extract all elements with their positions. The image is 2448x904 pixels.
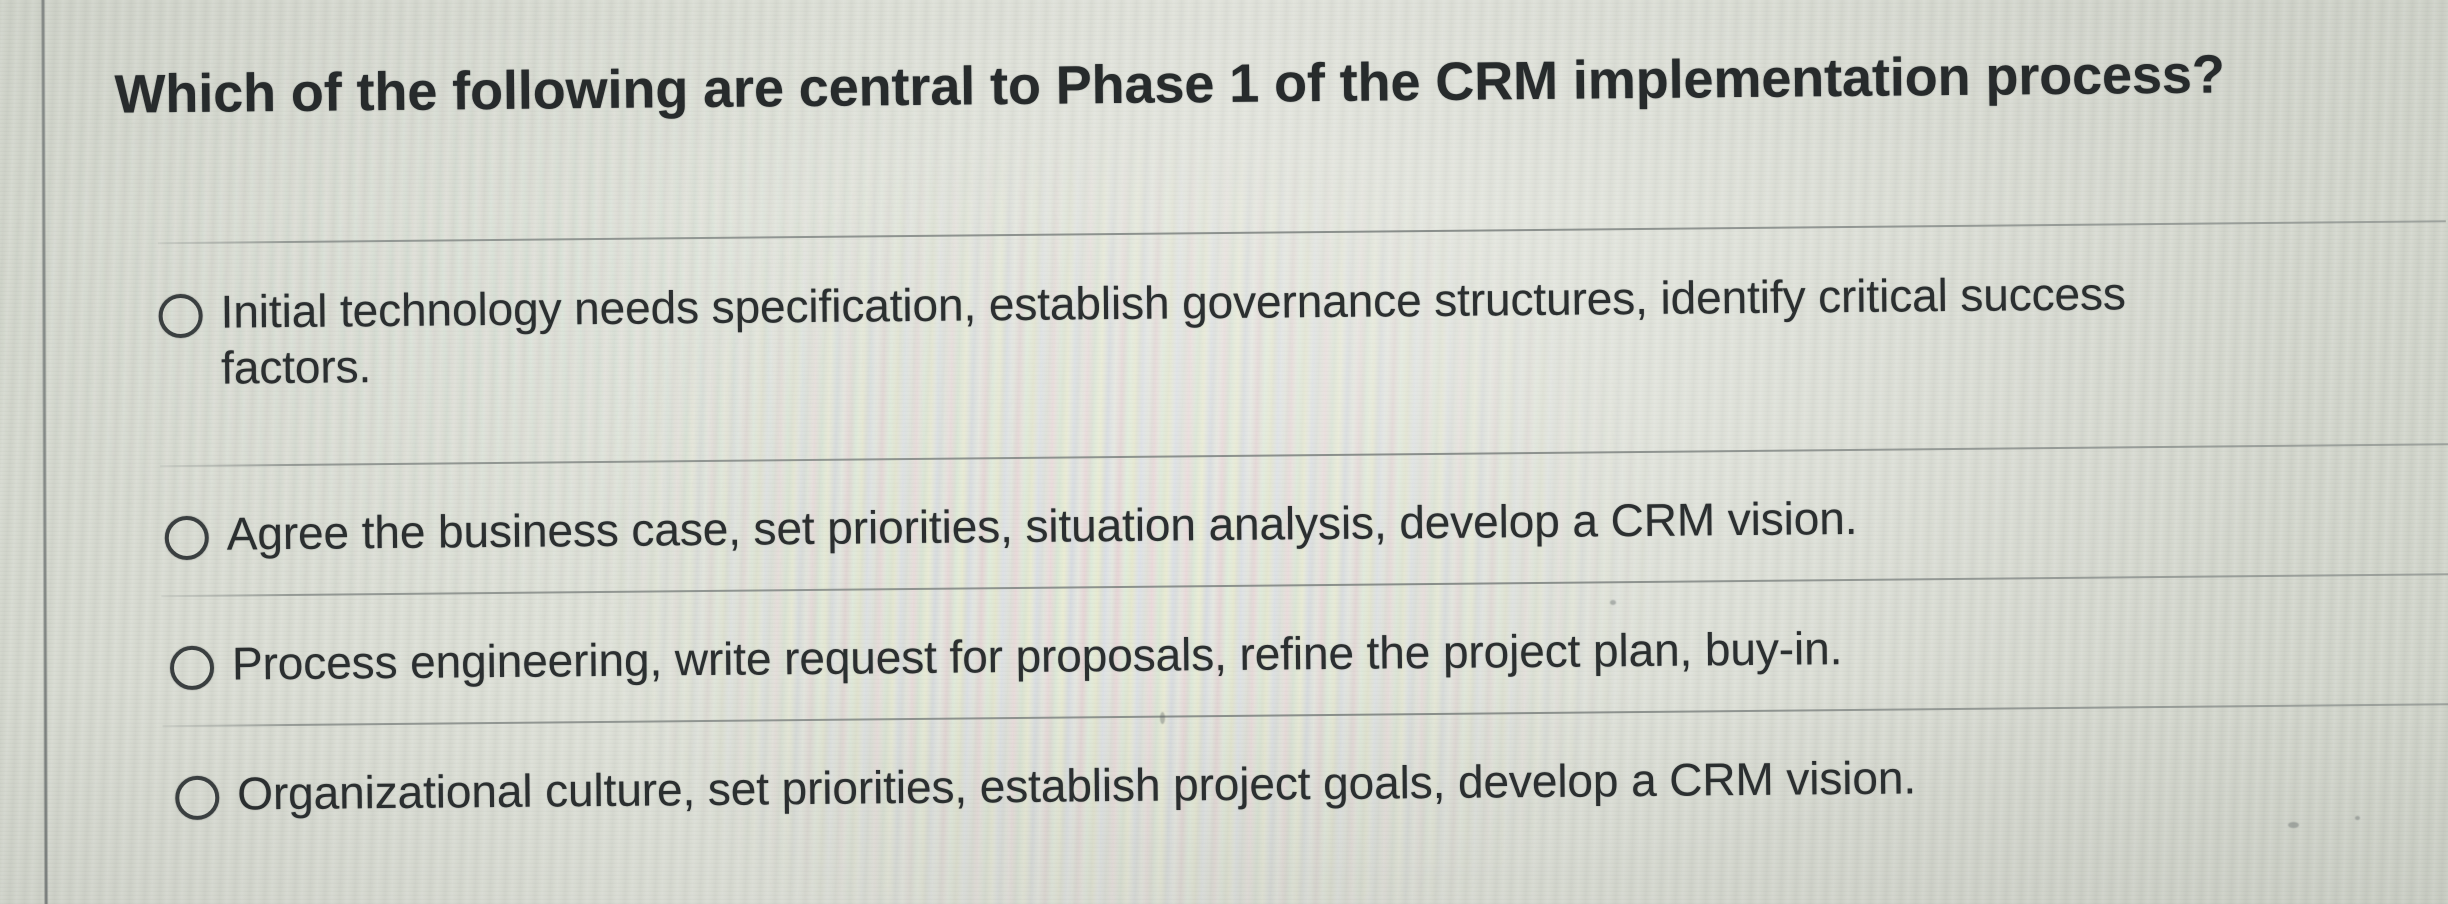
answer-option-a[interactable]: Initial technology needs specification, …: [158, 264, 2251, 396]
option-divider-2: [161, 573, 2448, 597]
answer-option-d[interactable]: Organizational culture, set priorities, …: [175, 749, 1916, 822]
radio-unchecked-icon[interactable]: [170, 646, 214, 690]
option-divider-1: [160, 443, 2448, 467]
answer-option-b[interactable]: Agree the business case, set priorities,…: [164, 490, 1857, 562]
answer-options-list: Initial technology needs specification, …: [0, 220, 2446, 243]
option-divider-3: [163, 703, 2448, 727]
radio-unchecked-icon[interactable]: [175, 776, 219, 820]
radio-unchecked-icon[interactable]: [165, 516, 209, 560]
answer-option-b-label: Agree the business case, set priorities,…: [226, 490, 1857, 562]
answer-option-c[interactable]: Process engineering, write request for p…: [170, 620, 1843, 692]
question-prompt: Which of the following are central to Ph…: [114, 39, 2415, 129]
option-divider-top: [158, 220, 2446, 244]
left-vertical-rule: [41, 0, 47, 904]
answer-option-d-label: Organizational culture, set priorities, …: [237, 749, 1916, 821]
answer-option-a-label: Initial technology needs specification, …: [220, 264, 2251, 396]
radio-unchecked-icon[interactable]: [158, 294, 202, 338]
question-content: Which of the following are central to Ph…: [0, 0, 2448, 904]
quiz-question-screenshot: Which of the following are central to Ph…: [0, 0, 2448, 904]
answer-option-c-label: Process engineering, write request for p…: [232, 620, 1843, 692]
